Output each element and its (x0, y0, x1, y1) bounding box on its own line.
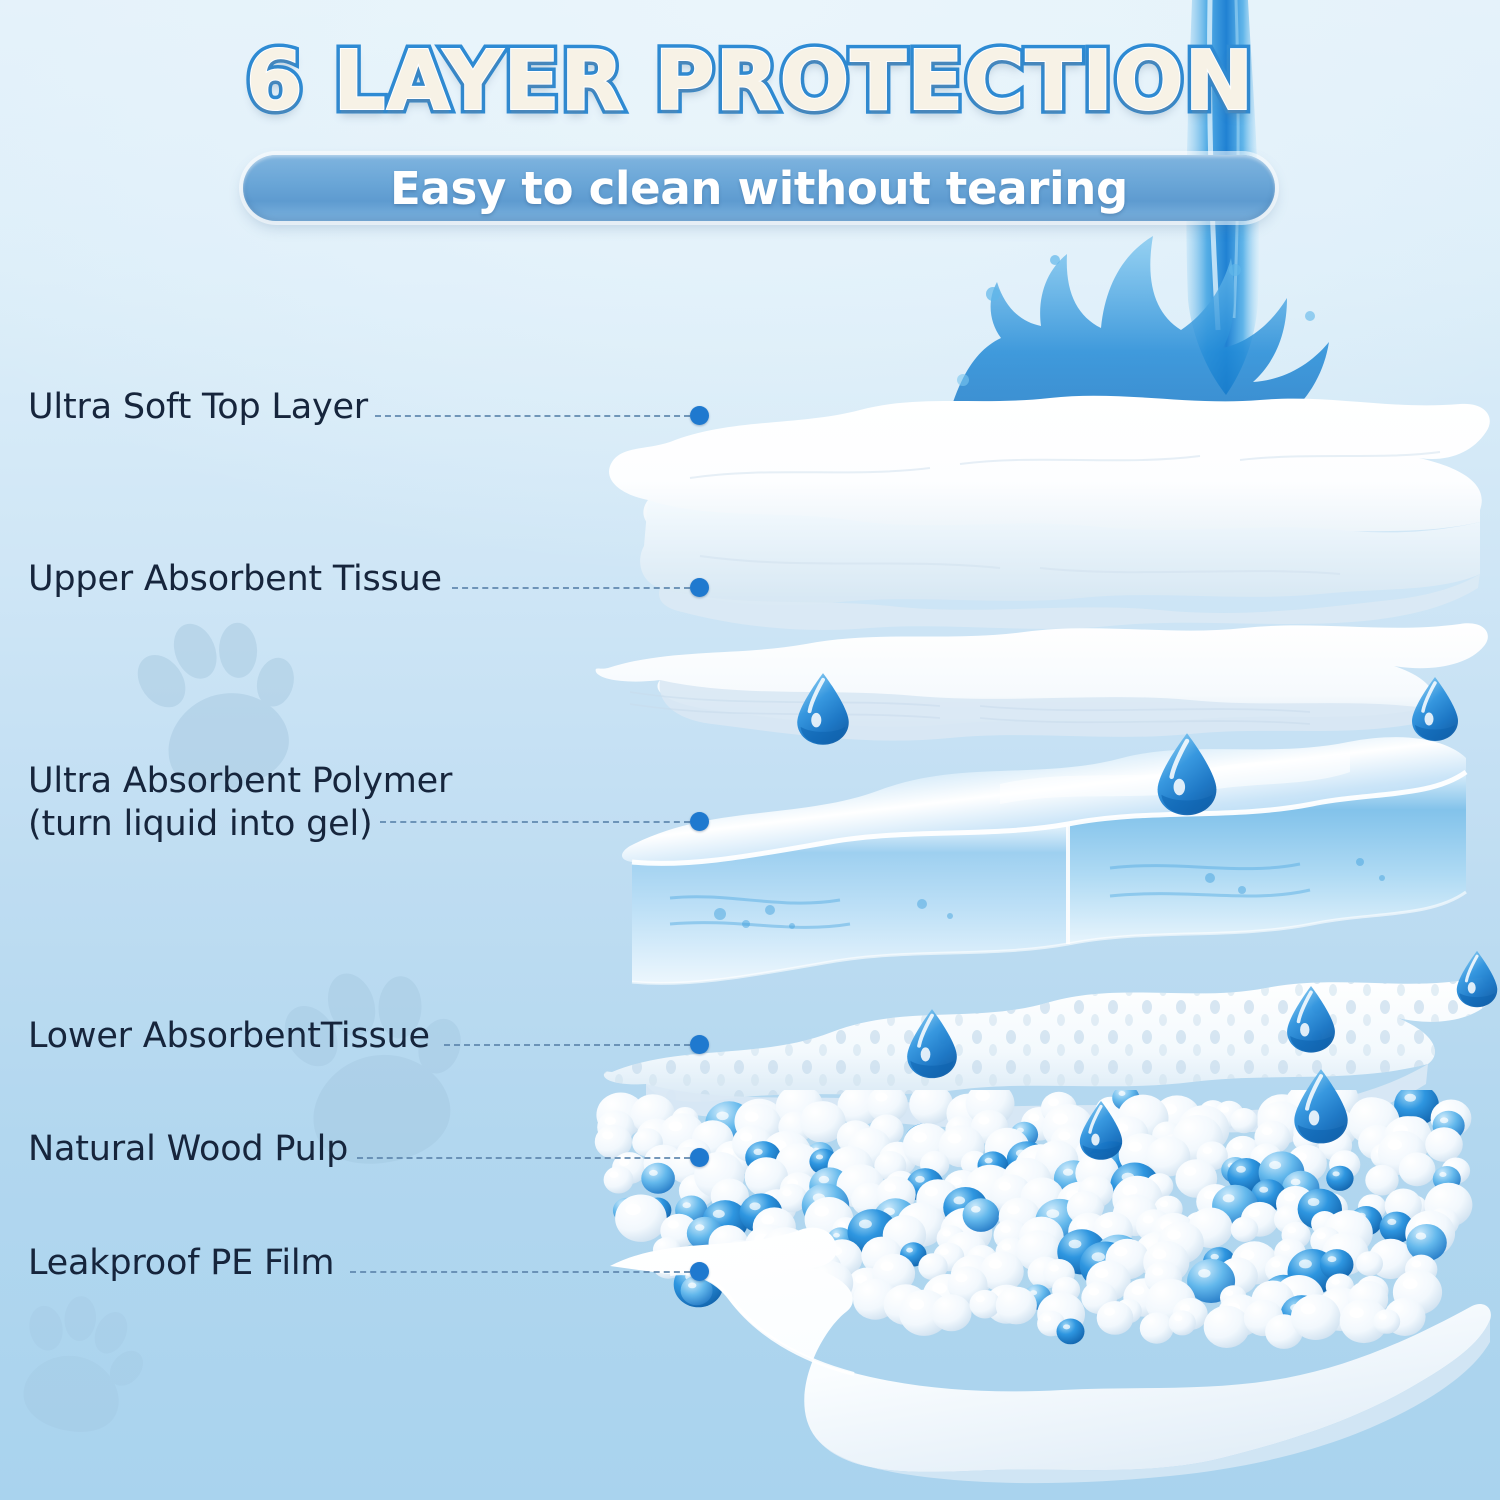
leader-line-leakproof-pe-film (350, 1271, 690, 1273)
water-droplet-icon (1155, 732, 1219, 821)
callout-label-line1: Upper Absorbent Tissue (28, 559, 442, 599)
callout-natural-wood-pulp: Natural Wood Pulp (28, 1128, 348, 1171)
subtitle-banner: Easy to clean without tearing (243, 155, 1275, 221)
water-droplet-icon (1410, 676, 1460, 747)
leader-line-lower-absorbent-tissue (444, 1044, 690, 1046)
leader-dot-ultra-soft-top-layer (690, 406, 709, 425)
callout-label-line1: Leakproof PE Film (28, 1243, 334, 1283)
callout-label-line1: Natural Wood Pulp (28, 1129, 348, 1169)
leader-dot-leakproof-pe-film (690, 1262, 709, 1281)
water-droplet-icon (1292, 1068, 1350, 1150)
leader-dot-lower-absorbent-tissue (690, 1035, 709, 1054)
leader-line-ultra-absorbent-polymer (380, 821, 690, 823)
leader-dot-natural-wood-pulp (690, 1148, 709, 1167)
water-droplet-icon (1455, 950, 1499, 1013)
callout-label-line1: Ultra Absorbent Polymer (28, 761, 452, 801)
callout-leakproof-pe-film: Leakproof PE Film (28, 1242, 334, 1285)
leader-dot-upper-absorbent-tissue (690, 578, 709, 597)
callout-ultra-absorbent-polymer: Ultra Absorbent Polymer (turn liquid int… (28, 760, 452, 845)
water-droplet-icon (1285, 985, 1337, 1059)
infographic-canvas: 6 LAYER PROTECTION 6 LAYER PROTECTION Ea… (0, 0, 1500, 1500)
leader-line-upper-absorbent-tissue (452, 587, 690, 589)
layer-leakproof-pe-film (550, 1200, 1500, 1500)
callout-upper-absorbent-tissue: Upper Absorbent Tissue (28, 558, 442, 601)
water-droplet-icon (795, 672, 851, 751)
callout-lower-absorbent-tissue: Lower AbsorbentTissue (28, 1015, 430, 1058)
water-droplet-icon (1078, 1100, 1124, 1166)
leader-dot-ultra-absorbent-polymer (690, 812, 709, 831)
subtitle-text: Easy to clean without tearing (243, 155, 1275, 221)
leader-line-natural-wood-pulp (357, 1157, 690, 1159)
callout-label-line2: (turn liquid into gel) (28, 804, 372, 844)
callout-label-line1: Lower AbsorbentTissue (28, 1016, 430, 1056)
paw-print-icon (0, 1276, 164, 1454)
page-title-outline: 6 LAYER PROTECTION (0, 34, 1500, 129)
callout-ultra-soft-top-layer: Ultra Soft Top Layer (28, 386, 368, 429)
leader-line-ultra-soft-top-layer (375, 415, 690, 417)
water-droplet-icon (905, 1008, 959, 1084)
product-layer-stack (540, 330, 1500, 1500)
callout-label-line1: Ultra Soft Top Layer (28, 387, 368, 427)
